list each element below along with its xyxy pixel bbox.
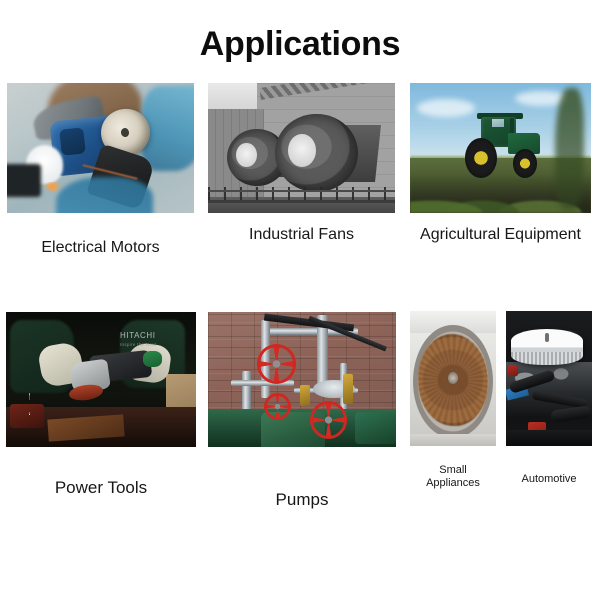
image-small-appliances[interactable] bbox=[410, 311, 496, 446]
image-agricultural-equipment[interactable] bbox=[410, 83, 591, 213]
caption-electrical-motors: Electrical Motors bbox=[7, 239, 194, 258]
slide: Applications Electrical Motors bbox=[0, 0, 600, 597]
pumps-illustration bbox=[208, 312, 396, 447]
caption-industrial-fans: Industrial Fans bbox=[208, 226, 395, 245]
caption-small-appliances-line1: Small bbox=[410, 464, 496, 477]
hitachi-brand-text: HITACHI bbox=[120, 331, 156, 340]
tractor-illustration bbox=[410, 83, 591, 213]
electrical-motor-illustration bbox=[7, 83, 194, 213]
angle-grinder-illustration: HITACHI Inspire the Next bbox=[6, 312, 196, 447]
car-engine-illustration bbox=[506, 311, 592, 446]
caption-automotive: Automotive bbox=[506, 473, 592, 486]
image-electrical-motors[interactable] bbox=[7, 83, 194, 213]
caption-agricultural-equipment: Agricultural Equipment bbox=[410, 226, 591, 245]
caption-power-tools: Power Tools bbox=[6, 478, 196, 498]
page-title: Applications bbox=[0, 22, 600, 66]
caption-small-appliances: Small Appliances bbox=[410, 464, 496, 490]
image-power-tools[interactable]: HITACHI Inspire the Next bbox=[6, 312, 196, 447]
image-industrial-fans[interactable] bbox=[208, 83, 395, 213]
image-automotive[interactable] bbox=[506, 311, 592, 446]
image-pumps[interactable] bbox=[208, 312, 396, 447]
coffee-grinder-illustration bbox=[410, 311, 496, 446]
industrial-fans-illustration bbox=[208, 83, 395, 213]
hitachi-brand-subtext: Inspire the Next bbox=[120, 342, 156, 347]
caption-pumps: Pumps bbox=[208, 490, 396, 510]
caption-small-appliances-line2: Appliances bbox=[410, 477, 496, 490]
